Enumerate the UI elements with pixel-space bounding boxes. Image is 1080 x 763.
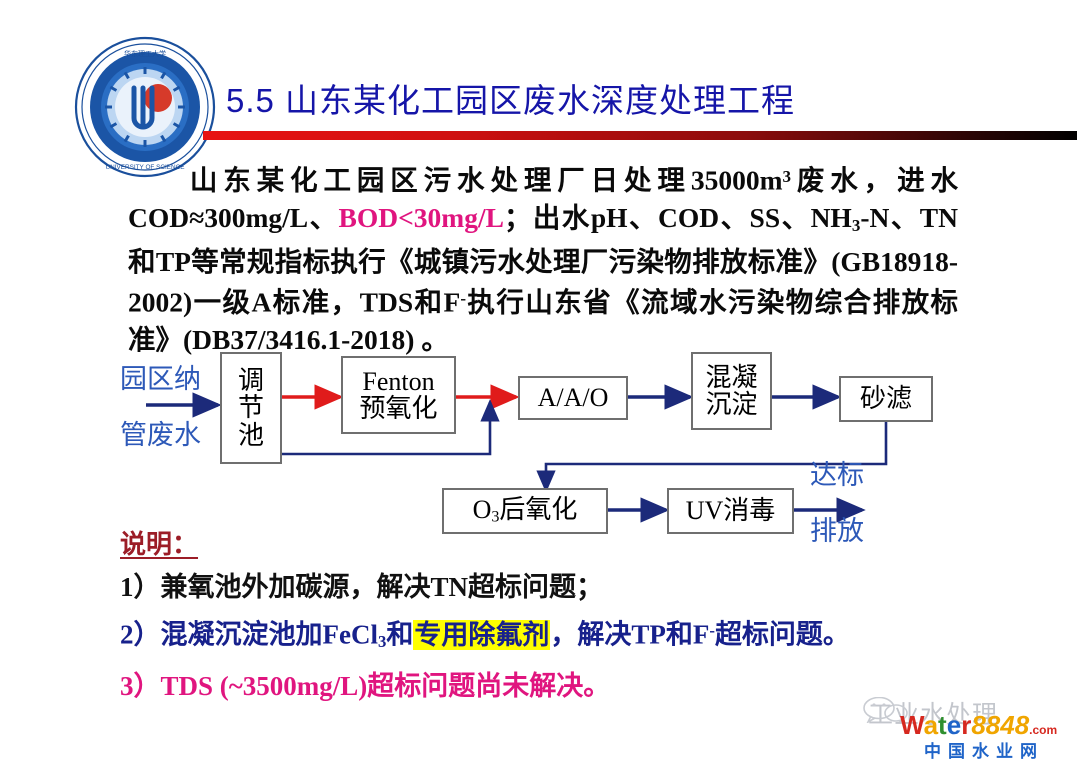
watermark-letter-r: r <box>961 710 971 740</box>
note-1-number: 1） <box>120 572 161 602</box>
notes-heading: 说明： <box>120 524 198 561</box>
watermark-number: 8848 <box>971 710 1029 740</box>
intro-paragraph: 山东某化工园区污水处理厂日处理35000m3废水，进水COD≈300mg/L、B… <box>128 158 958 358</box>
paragraph-seg-3: ；出水pH、COD、SS、NH <box>504 202 852 233</box>
node-shalv[interactable]: 砂滤 <box>839 376 933 422</box>
note-3-text: TDS (~3500mg/L)超标问题尚未解决。 <box>161 671 611 701</box>
ecust-logo: 华东理工大学 UNIVERSITY OF SCIENCE <box>74 36 216 178</box>
notes-section: 说明： 1）兼氧池外加碳源，解决TN超标问题； 2）混凝沉淀池加FeCl3和专用… <box>120 524 1000 708</box>
slide-header: 华东理工大学 UNIVERSITY OF SCIENCE 5.5 山东某化工园区… <box>0 0 1080 150</box>
note-item-2: 2）混凝沉淀池加FeCl3和专用除氟剂，解决TP和F-超标问题。 <box>120 609 1000 664</box>
node-tiaojiechi-label3: 池 <box>238 422 264 449</box>
watermark-letter-a: a <box>924 710 938 740</box>
watermark-letter-e: e <box>947 710 961 740</box>
note-2-number: 2） <box>120 620 161 650</box>
note-2-highlight: 专用除氟剂 <box>413 620 550 650</box>
label-outlet-line1: 达标 <box>810 460 864 490</box>
note-3-number: 3） <box>120 671 161 701</box>
title-divider <box>203 131 1077 140</box>
watermark-letter-t: t <box>938 710 947 740</box>
page-title: 5.5 山东某化工园区废水深度处理工程 <box>226 74 795 122</box>
label-influent-line2: 管废水 <box>120 420 201 450</box>
node-o3-label: O3后氧化 <box>473 496 578 526</box>
note-2-text-pre2: 和 <box>386 620 413 650</box>
node-hunning[interactable]: 混凝 沉淀 <box>691 352 772 430</box>
watermark-subtitle: 中国水业网 <box>924 737 1044 762</box>
node-tiaojiechi-label2: 节 <box>238 394 264 421</box>
note-item-1: 1）兼氧池外加碳源，解决TN超标问题； <box>120 565 1000 609</box>
node-aao[interactable]: A/A/O <box>518 376 628 420</box>
watermark: 工业水处理 Water8848.com 中国水业网 <box>862 693 1080 763</box>
node-fenton-label-cn: 预氧化 <box>359 395 437 422</box>
paragraph-seg-1: 山东某化工园区污水处理厂日处理35000m <box>184 165 783 196</box>
node-uv-label: UV消毒 <box>686 497 776 524</box>
label-influent-line1: 园区纳 <box>120 364 201 394</box>
note-2-text-post: ，解决TP和F <box>550 620 709 650</box>
node-fenton[interactable]: Fenton 预氧化 <box>341 356 456 434</box>
node-fenton-label-en: Fenton <box>362 368 434 395</box>
node-tiaojiechi-label: 调 <box>238 367 264 394</box>
node-tiaojiechi[interactable]: 调 节 池 <box>220 352 282 464</box>
node-aao-label: A/A/O <box>538 384 609 411</box>
watermark-tld: .com <box>1029 723 1057 737</box>
note-2-text-post2: 超标问题。 <box>715 620 850 650</box>
node-shalv-label: 砂滤 <box>860 385 912 412</box>
note-1-text: 兼氧池外加碳源，解决TN超标问题； <box>161 572 604 602</box>
node-hunning-label1: 混凝 <box>705 364 757 391</box>
node-hunning-label2: 沉淀 <box>705 391 757 418</box>
paragraph-superscript-3: 3 <box>783 167 792 186</box>
svg-text:华东理工大学: 华东理工大学 <box>124 49 166 58</box>
watermark-letter-w: W <box>900 710 924 740</box>
paragraph-highlight-bod: BOD<30mg/L <box>339 202 504 233</box>
note-2-text-pre: 混凝沉淀池加FeCl <box>161 620 378 650</box>
